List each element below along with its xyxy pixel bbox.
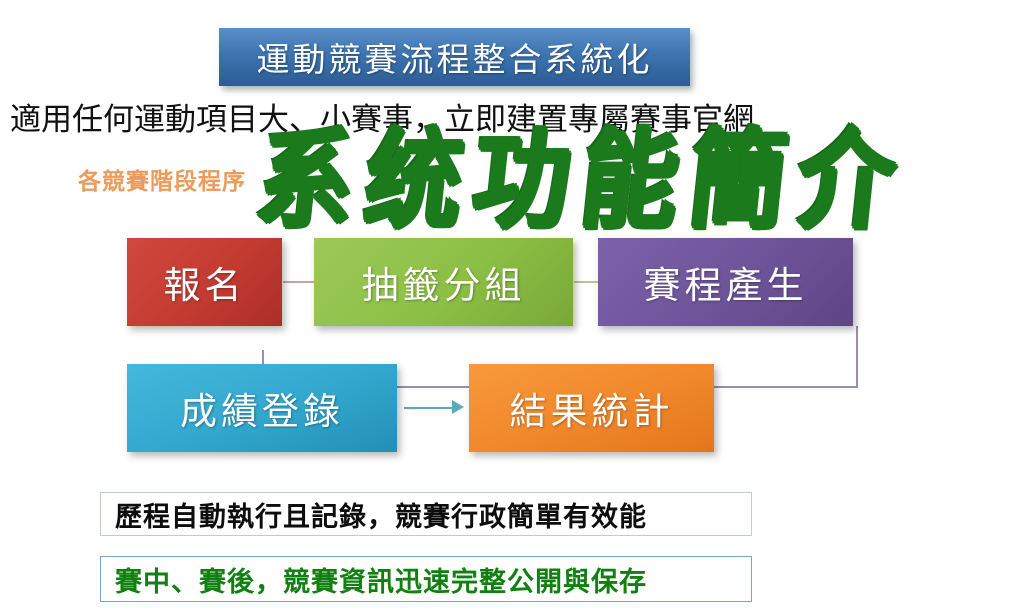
flow-box-stats-label: 結果統計 — [510, 381, 674, 435]
connector-draw-to-schedule — [574, 281, 598, 283]
title-text: 運動競賽流程整合系統化 — [257, 33, 653, 81]
note-box-process-text: 歷程自動執行且記錄，競賽行政簡單有效能 — [101, 495, 647, 534]
title-banner: 運動競賽流程整合系統化 — [219, 28, 690, 86]
flow-box-draw[interactable]: 抽籤分組 — [314, 238, 573, 326]
brush-calligraphy-overlay: 系统功能簡介 — [251, 115, 1005, 247]
flow-box-signup[interactable]: 報名 — [127, 238, 282, 326]
slide-canvas: 運動競賽流程整合系統化 適用任何運動項目大、小賽事，立即建置專屬賽事官網 各競賽… — [0, 0, 1024, 608]
flow-box-schedule-label: 賽程產生 — [644, 255, 808, 309]
subtitle-sub-text: 各競賽階段程序 — [78, 162, 246, 196]
flow-box-signup-label: 報名 — [164, 255, 246, 309]
note-box-publish-text: 賽中、賽後，競賽資訊迅速完整公開與保存 — [101, 560, 647, 599]
note-box-publish: 賽中、賽後，競賽資訊迅速完整公開與保存 — [100, 556, 752, 602]
flow-box-score[interactable]: 成績登錄 — [127, 364, 397, 452]
connector-signup-to-draw — [283, 281, 314, 283]
flow-box-score-label: 成績登錄 — [180, 381, 344, 435]
connector-score-to-stats-arrowhead — [452, 400, 464, 414]
note-box-process: 歷程自動執行且記錄，競賽行政簡單有效能 — [100, 492, 752, 536]
connector-schedule-down — [856, 326, 858, 387]
flow-box-draw-label: 抽籤分組 — [362, 255, 526, 309]
flow-box-schedule[interactable]: 賽程產生 — [598, 238, 853, 326]
flow-box-stats[interactable]: 結果統計 — [469, 364, 714, 452]
